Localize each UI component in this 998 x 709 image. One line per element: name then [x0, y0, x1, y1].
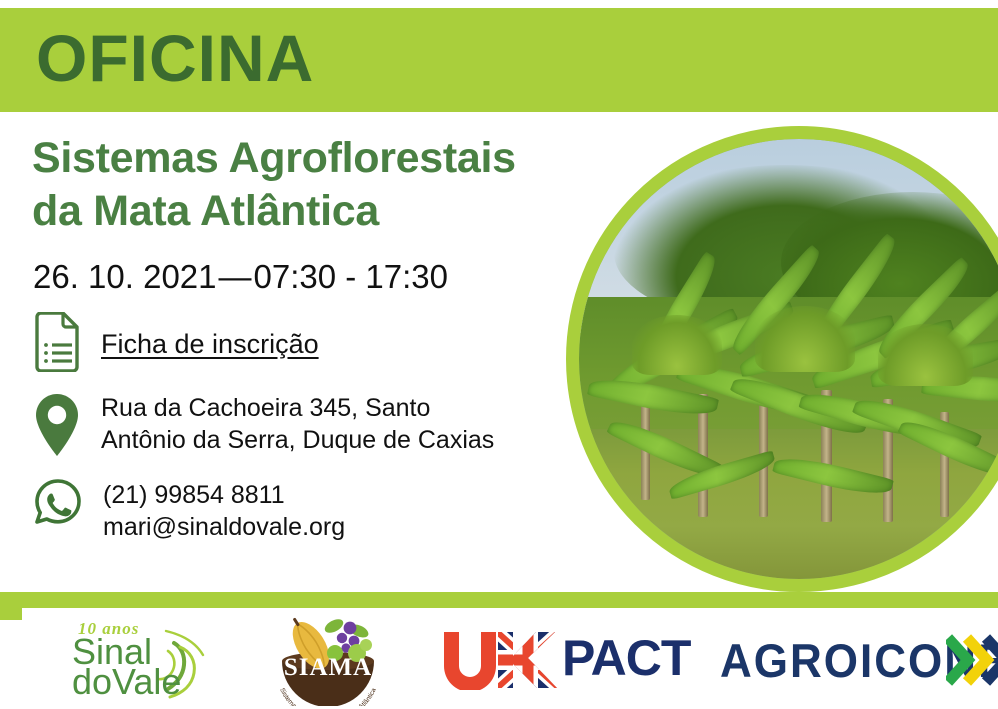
whatsapp-icon[interactable]	[33, 478, 83, 535]
event-time: 07:30 - 17:30	[254, 258, 449, 295]
uk-mark	[440, 630, 562, 695]
address-line-1: Rua da Cachoeira 345, Santo	[101, 392, 494, 424]
logo-sinal-do-vale: 10 anos Sinal doVale	[48, 613, 228, 705]
banana-crown	[878, 324, 973, 386]
logo-agroicone: AGROICONE	[720, 628, 998, 690]
contact-email[interactable]: mari@sinaldovale.org	[103, 511, 345, 543]
date-time-separator: —	[217, 257, 254, 297]
page-title: OFICINA	[36, 18, 314, 98]
sinal-line-2: doVale	[72, 663, 181, 701]
event-date: 26. 10. 2021	[33, 258, 217, 295]
registration-form-link[interactable]: Ficha de inscrição	[101, 327, 319, 361]
pact-wordmark: PACT	[562, 630, 690, 686]
address-line-2: Antônio da Serra, Duque de Caxias	[101, 424, 494, 456]
banana-crown	[632, 315, 722, 375]
map-pin-icon	[33, 392, 81, 463]
subtitle-line-1: Sistemas Agroflorestais	[32, 132, 692, 185]
footer-logo-bar: 10 anos Sinal doVale	[22, 608, 998, 709]
registration-form-row[interactable]: Ficha de inscrição	[33, 312, 319, 377]
logo-siama: SIAMA Sistemas Agroflorestais na Mata At…	[262, 611, 394, 706]
address-text: Rua da Cachoeira 345, Santo Antônio da S…	[101, 392, 494, 456]
contact-text: (21) 99854 8811 mari@sinaldovale.org	[103, 479, 345, 543]
contact-phone[interactable]: (21) 99854 8811	[103, 479, 345, 511]
header-band: OFICINA	[0, 8, 998, 112]
poster-canvas: OFICINA	[0, 0, 998, 709]
agroicone-chevrons	[946, 634, 998, 691]
address-row: Rua da Cachoeira 345, Santo Antônio da S…	[33, 392, 494, 463]
banana-crown	[755, 306, 855, 372]
event-datetime: 26. 10. 2021—07:30 - 17:30	[33, 257, 448, 297]
logo-uk-pact: PACT	[440, 624, 690, 694]
subtitle-line-2: da Mata Atlântica	[32, 185, 692, 238]
siama-wordmark: SIAMA	[284, 654, 372, 681]
event-subtitle: Sistemas Agroflorestais da Mata Atlântic…	[32, 132, 692, 238]
document-list-icon	[33, 312, 81, 377]
contact-row[interactable]: (21) 99854 8811 mari@sinaldovale.org	[33, 478, 345, 543]
